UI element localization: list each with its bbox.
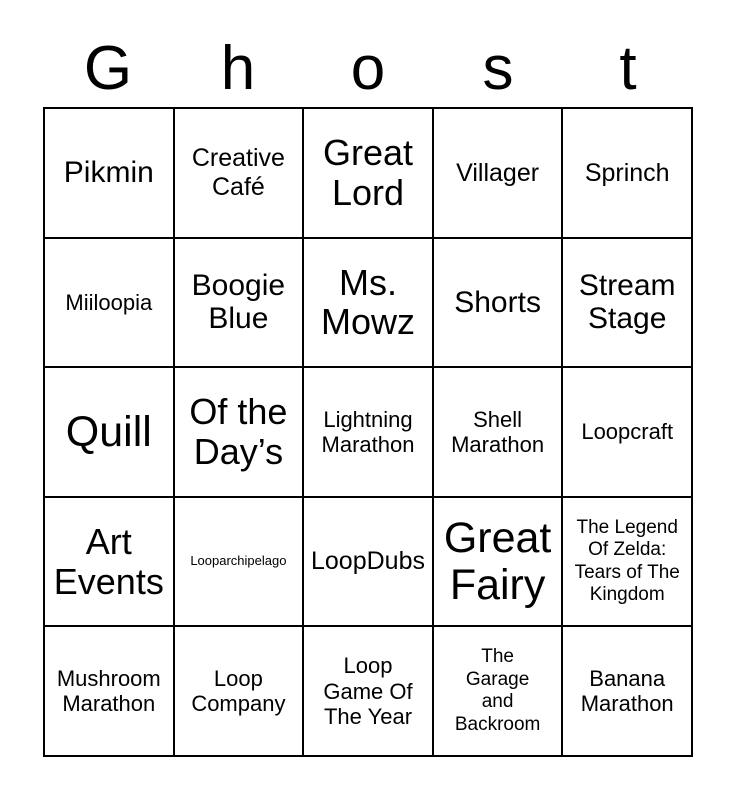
bingo-cell-label: Loop Game Of The Year [308, 653, 428, 729]
bingo-cell-label: The Garage and Backroom [438, 646, 558, 736]
bingo-cell-label: Boogie Blue [179, 269, 299, 336]
bingo-cell-r2c1[interactable]: Miiloopia [45, 239, 175, 369]
bingo-cell-r3c3[interactable]: Lightning Marathon [304, 368, 434, 498]
header-letter-1: G [43, 38, 173, 100]
bingo-cell-label: Art Events [49, 522, 169, 601]
bingo-cell-r5c3[interactable]: Loop Game Of The Year [304, 627, 434, 757]
bingo-cell-r4c4[interactable]: Great Fairy [434, 498, 564, 628]
bingo-cell-r3c4[interactable]: Shell Marathon [434, 368, 564, 498]
bingo-cell-label: Shorts [438, 286, 558, 320]
bingo-cell-r2c3[interactable]: Ms. Mowz [304, 239, 434, 369]
bingo-cell-label: Ms. Mowz [308, 263, 428, 342]
bingo-cell-r3c5[interactable]: Loopcraft [563, 368, 693, 498]
bingo-cell-r4c2[interactable]: Looparchipelago [175, 498, 305, 628]
bingo-cell-label: Loop Company [179, 666, 299, 717]
bingo-cell-r5c4[interactable]: The Garage and Backroom [434, 627, 564, 757]
bingo-cell-label: Sprinch [567, 159, 687, 188]
bingo-cell-label: Quill [49, 409, 169, 455]
bingo-cell-r4c1[interactable]: Art Events [45, 498, 175, 628]
bingo-cell-r1c1[interactable]: Pikmin [45, 109, 175, 239]
bingo-cell-r1c2[interactable]: Creative Café [175, 109, 305, 239]
bingo-cell-label: Banana Marathon [567, 666, 687, 717]
bingo-cell-label: Of the Day’s [179, 392, 299, 471]
bingo-header: G h o s t [43, 30, 693, 107]
bingo-cell-label: Shell Marathon [438, 407, 558, 458]
bingo-cell-r3c2[interactable]: Of the Day’s [175, 368, 305, 498]
bingo-cell-label: Mushroom Marathon [49, 666, 169, 717]
bingo-cell-r5c1[interactable]: Mushroom Marathon [45, 627, 175, 757]
bingo-cell-label: Loopcraft [567, 419, 687, 444]
header-letter-4: s [433, 38, 563, 100]
bingo-cell-r3c1[interactable]: Quill [45, 368, 175, 498]
bingo-cell-label: Stream Stage [567, 269, 687, 336]
bingo-cell-r2c4[interactable]: Shorts [434, 239, 564, 369]
bingo-cell-label: Great Lord [308, 133, 428, 212]
bingo-cell-label: Great Fairy [438, 515, 558, 608]
bingo-cell-r4c5[interactable]: The Legend Of Zelda: Tears of The Kingdo… [563, 498, 693, 628]
bingo-cell-label: LoopDubs [308, 547, 428, 576]
bingo-cell-label: Looparchipelago [179, 554, 299, 569]
bingo-cell-label: The Legend Of Zelda: Tears of The Kingdo… [567, 517, 687, 607]
bingo-cell-label: Miiloopia [49, 290, 169, 315]
bingo-cell-r5c5[interactable]: Banana Marathon [563, 627, 693, 757]
bingo-cell-label: Villager [438, 159, 558, 188]
bingo-grid: Pikmin Creative Café Great Lord Villager… [43, 107, 693, 757]
bingo-cell-r1c4[interactable]: Villager [434, 109, 564, 239]
bingo-cell-label: Pikmin [49, 156, 169, 190]
bingo-cell-r4c3[interactable]: LoopDubs [304, 498, 434, 628]
bingo-cell-label: Lightning Marathon [308, 407, 428, 458]
header-letter-2: h [173, 38, 303, 100]
bingo-cell-r5c2[interactable]: Loop Company [175, 627, 305, 757]
bingo-cell-label: Creative Café [179, 144, 299, 201]
bingo-cell-r2c2[interactable]: Boogie Blue [175, 239, 305, 369]
bingo-cell-r1c3[interactable]: Great Lord [304, 109, 434, 239]
bingo-cell-r1c5[interactable]: Sprinch [563, 109, 693, 239]
bingo-cell-r2c5[interactable]: Stream Stage [563, 239, 693, 369]
bingo-card: G h o s t Pikmin Creative Café Great Lor… [0, 0, 736, 800]
header-letter-3: o [303, 38, 433, 100]
header-letter-5: t [563, 38, 693, 100]
